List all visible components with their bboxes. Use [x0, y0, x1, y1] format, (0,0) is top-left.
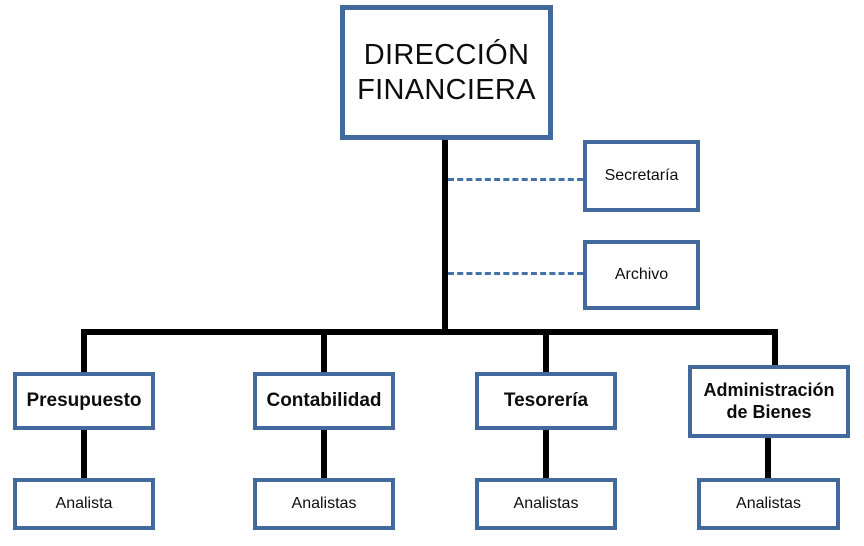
link-administracion-analistas — [765, 436, 771, 482]
node-analista-presupuesto[interactable]: Analista — [13, 478, 155, 530]
node-label: Analistas — [732, 495, 805, 514]
node-label: Archivo — [611, 266, 672, 285]
dashed-link-secretaria — [448, 178, 583, 181]
node-label: Analistas — [288, 495, 361, 514]
drop-connector-presupuesto — [81, 329, 87, 374]
node-tesoreria[interactable]: Tesorería — [475, 372, 617, 430]
node-label: Presupuesto — [22, 390, 145, 412]
node-administracion-de-bienes[interactable]: Administración de Bienes — [688, 365, 850, 438]
link-contabilidad-analistas — [321, 428, 327, 480]
node-label: Secretaría — [601, 167, 683, 186]
node-archivo[interactable]: Archivo — [583, 240, 700, 310]
drop-connector-contabilidad — [321, 329, 327, 374]
node-label: Analistas — [510, 495, 583, 514]
org-chart: DIRECCIÓN FINANCIERA Secretaría Archivo … — [0, 0, 864, 546]
node-label: Administración de Bienes — [699, 380, 838, 422]
node-label: Tesorería — [500, 390, 592, 412]
node-analistas-administracion[interactable]: Analistas — [697, 478, 840, 530]
node-contabilidad[interactable]: Contabilidad — [253, 372, 395, 430]
link-presupuesto-analista — [81, 428, 87, 480]
node-direccion-financiera[interactable]: DIRECCIÓN FINANCIERA — [340, 5, 553, 140]
node-presupuesto[interactable]: Presupuesto — [13, 372, 155, 430]
node-label: DIRECCIÓN FINANCIERA — [353, 38, 540, 106]
department-horizontal-bar — [83, 329, 778, 335]
dashed-link-archivo — [448, 272, 583, 275]
node-label: Contabilidad — [262, 390, 385, 412]
node-label: Analista — [52, 495, 117, 514]
node-analistas-contabilidad[interactable]: Analistas — [253, 478, 395, 530]
drop-connector-tesoreria — [543, 329, 549, 374]
trunk-vertical-connector — [442, 138, 448, 333]
node-analistas-tesoreria[interactable]: Analistas — [475, 478, 617, 530]
link-tesoreria-analistas — [543, 428, 549, 480]
node-secretaria[interactable]: Secretaría — [583, 140, 700, 212]
